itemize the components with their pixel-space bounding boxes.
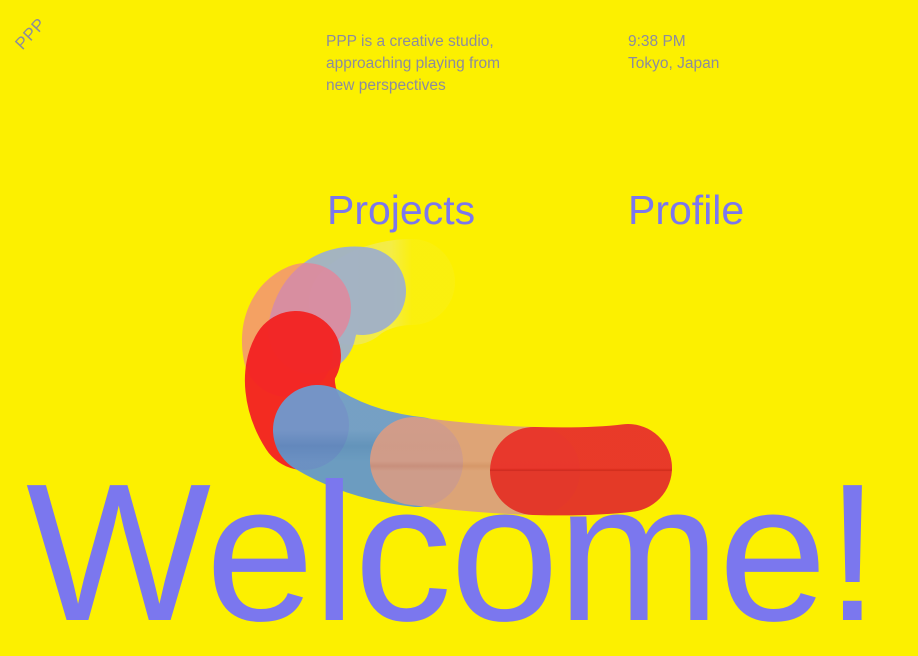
studio-description: PPP is a creative studio, approaching pl… (326, 31, 576, 97)
locale-block: 9:38 PM Tokyo, Japan (628, 31, 719, 75)
studio-description-line-3: new perspectives (326, 75, 576, 97)
nav-link-profile[interactable]: Profile (628, 186, 744, 234)
local-time: 9:38 PM (628, 31, 719, 53)
logo-label: PPP (11, 14, 50, 54)
local-location: Tokyo, Japan (628, 53, 719, 75)
segment-tail-pale-yellow (352, 282, 412, 302)
page-root: PPP PPP is a creative studio, approachin… (0, 0, 918, 656)
segment-blue-gray (312, 291, 362, 330)
segment-pink (287, 308, 306, 352)
logo-ppp[interactable]: PPP (20, 14, 80, 74)
nav-link-projects[interactable]: Projects (327, 186, 475, 234)
segment-bright-red (290, 356, 304, 425)
studio-description-line-1: PPP is a creative studio, (326, 31, 576, 53)
studio-description-line-2: approaching playing from (326, 53, 576, 75)
page-title: Welcome! (26, 455, 878, 651)
